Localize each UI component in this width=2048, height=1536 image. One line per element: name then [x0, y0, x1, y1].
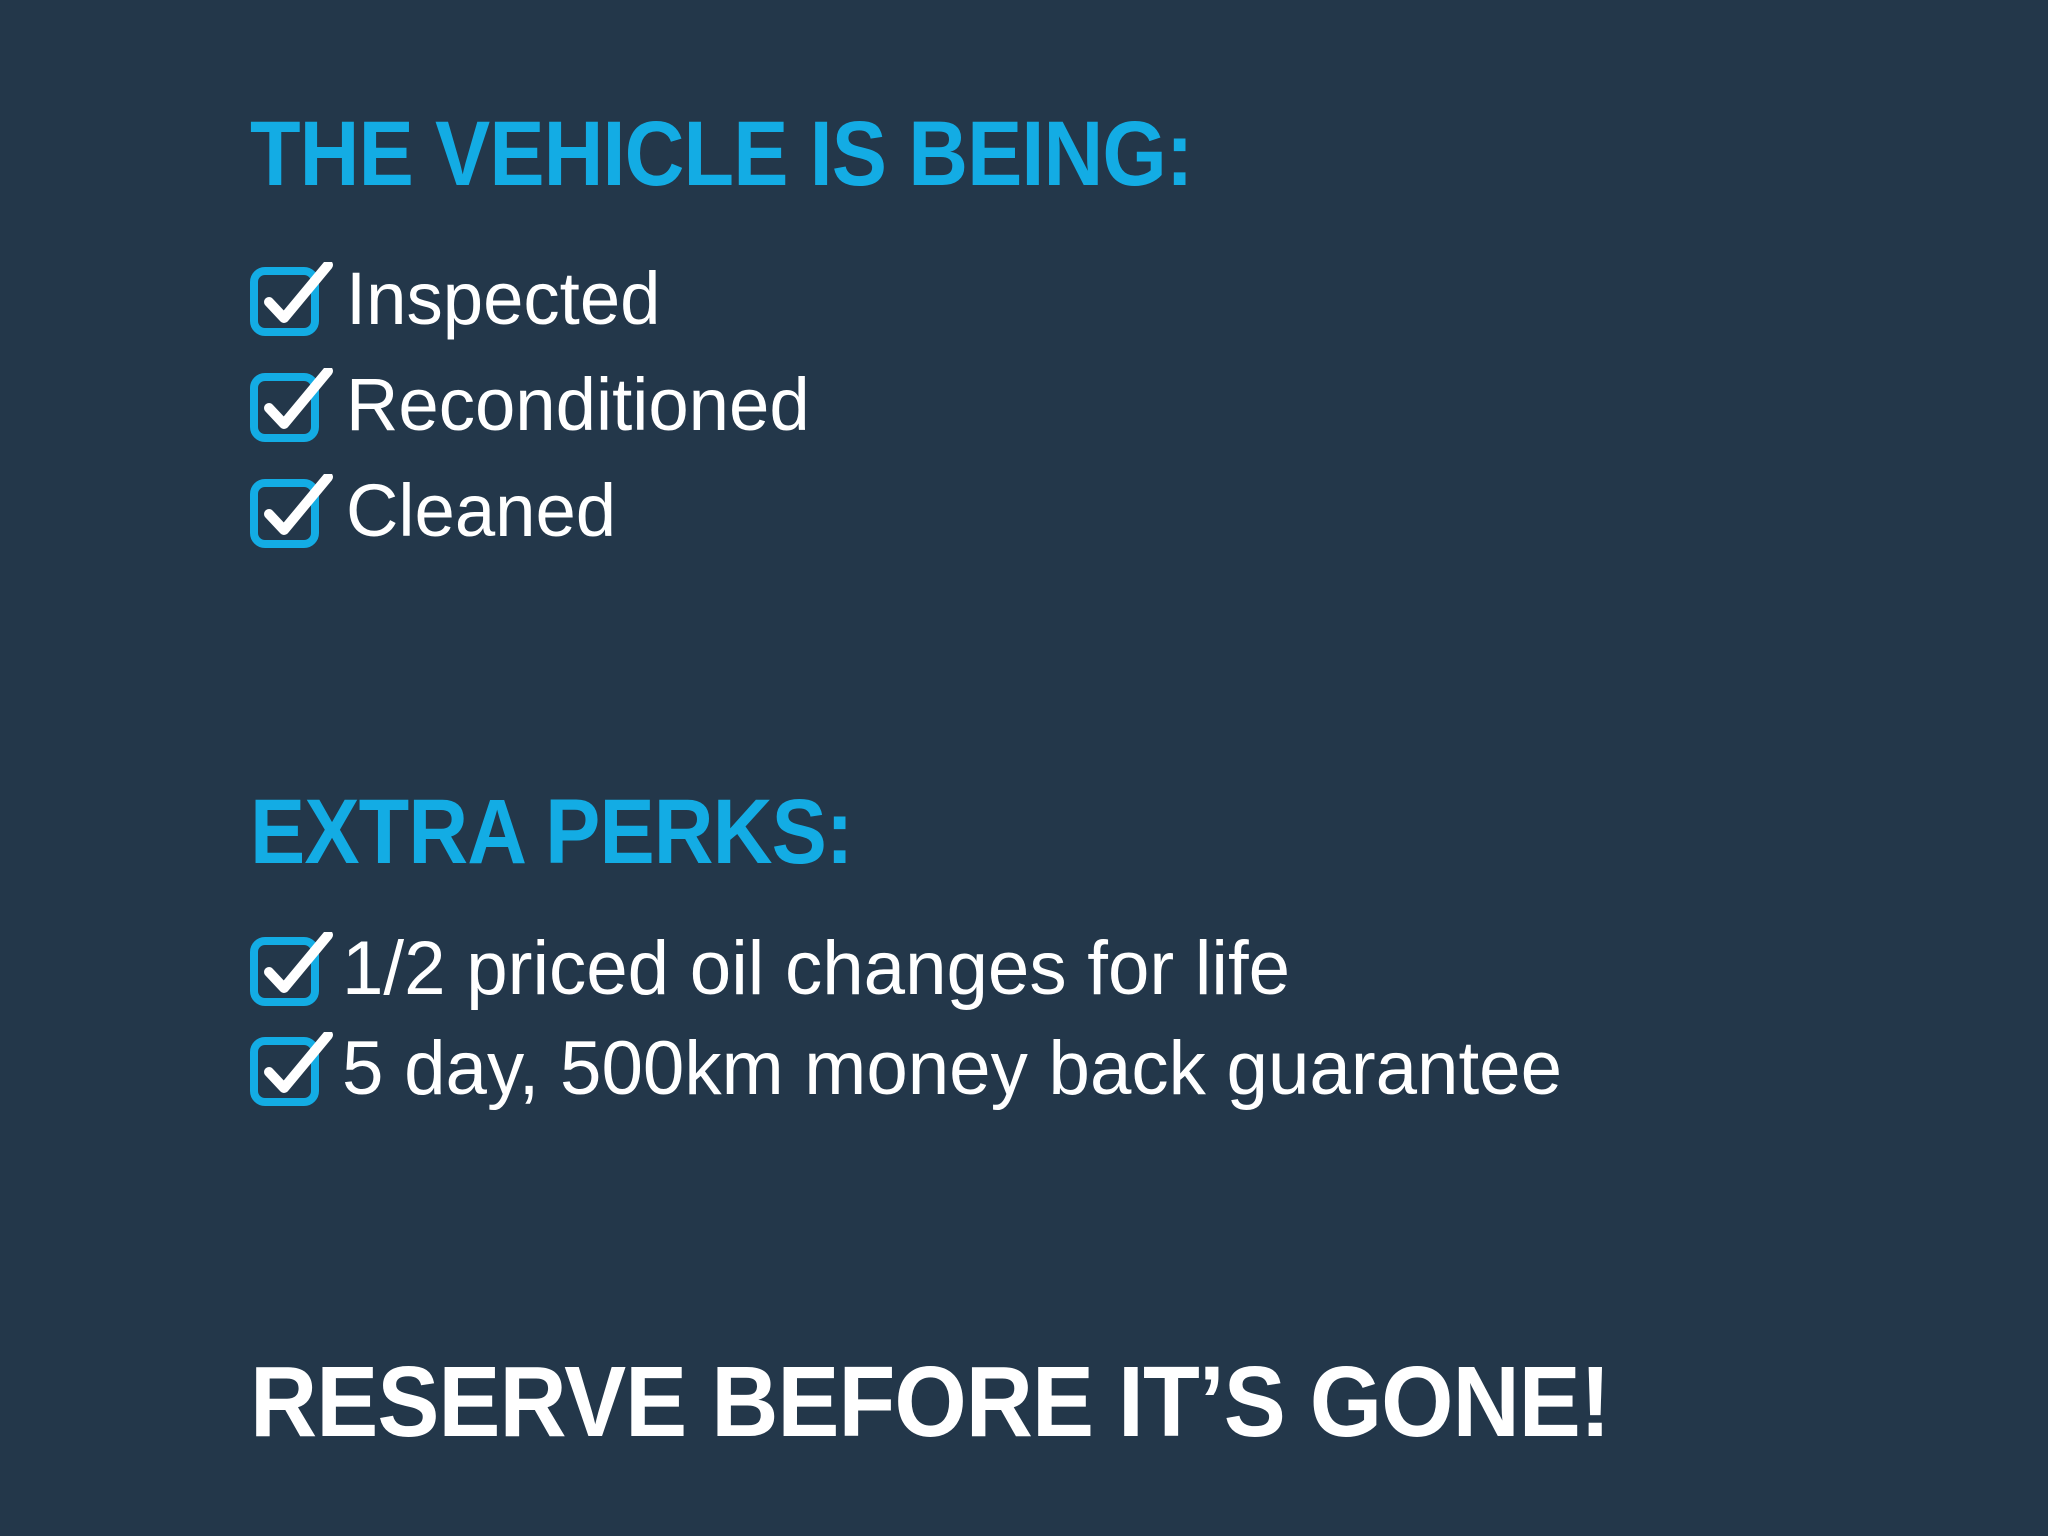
list-item-label: Reconditioned [346, 368, 810, 442]
checkbox-checked-icon [250, 474, 336, 548]
list-item: Inspected [250, 262, 819, 336]
page-title: THE VEHICLE IS BEING: [250, 108, 1193, 200]
list-item-label: 5 day, 500km money back guarantee [342, 1032, 1562, 1106]
perks-checklist: 1/2 priced oil changes for life 5 day, 5… [250, 932, 1587, 1132]
vehicle-checklist: Inspected Reconditioned Cleaned [250, 262, 819, 580]
content-column: THE VEHICLE IS BEING: Inspected Recondit… [250, 0, 1950, 1536]
list-item: 1/2 priced oil changes for life [250, 932, 1587, 1006]
section-title-extra-perks: EXTRA PERKS: [250, 786, 853, 878]
list-item: Cleaned [250, 474, 819, 548]
checkbox-checked-icon [250, 932, 336, 1006]
checkbox-checked-icon [250, 1032, 336, 1106]
list-item-label: Cleaned [346, 474, 616, 548]
list-item: 5 day, 500km money back guarantee [250, 1032, 1587, 1106]
call-to-action-text: RESERVE BEFORE IT’S GONE! [250, 1352, 1610, 1452]
list-item-label: Inspected [346, 262, 660, 336]
promo-slide: THE VEHICLE IS BEING: Inspected Recondit… [0, 0, 2048, 1536]
list-item: Reconditioned [250, 368, 819, 442]
list-item-label: 1/2 priced oil changes for life [342, 932, 1290, 1006]
checkbox-checked-icon [250, 368, 336, 442]
checkbox-checked-icon [250, 262, 336, 336]
